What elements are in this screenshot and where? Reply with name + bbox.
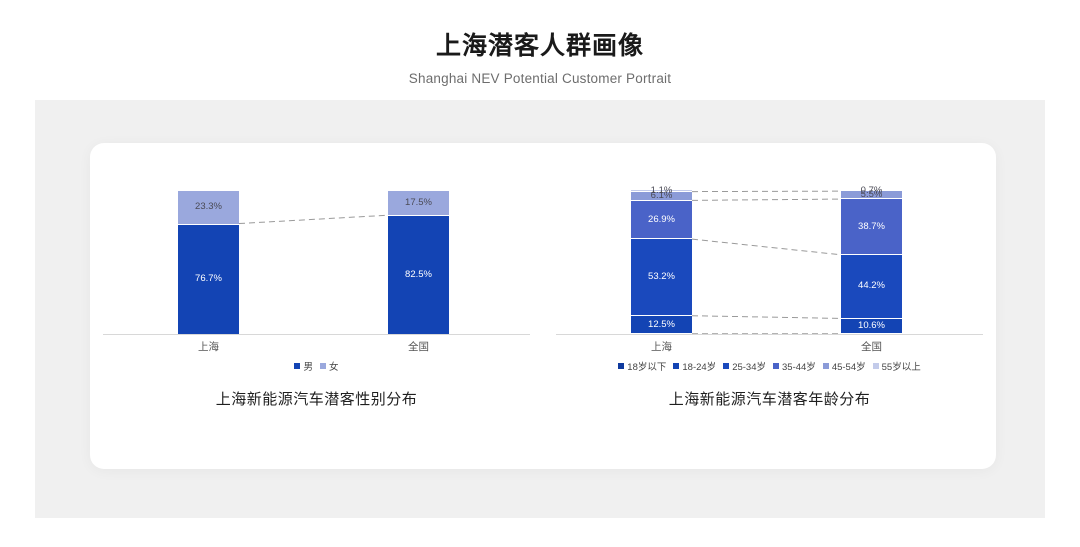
legend-label: 55岁以上 xyxy=(882,359,921,373)
legend-item[interactable]: 25-34岁 xyxy=(723,359,766,373)
bar-segment-label: 17.5% xyxy=(405,198,432,208)
age-plot-area: 0.2%12.5%53.2%26.9%6.1%1.1% 0.2%10.6%44.… xyxy=(556,190,983,334)
bar-segment[interactable]: 76.7% xyxy=(178,224,239,334)
legend-swatch-icon xyxy=(320,363,326,369)
bar-segment-label: 23.3% xyxy=(195,202,222,212)
legend-swatch-icon xyxy=(294,363,300,369)
legend-swatch-icon xyxy=(873,363,879,369)
bar-segment[interactable]: 38.7% xyxy=(841,198,902,254)
legend-swatch-icon xyxy=(773,363,779,369)
gender-legend: 男女 xyxy=(90,359,543,373)
category-label-national: 全国 xyxy=(841,339,902,354)
chart-block-age: 0.2%12.5%53.2%26.9%6.1%1.1% 0.2%10.6%44.… xyxy=(543,143,996,469)
chart-block-gender: 76.7%23.3% 82.5%17.5% 上海 全国 男女 上海新能源汽车潜客… xyxy=(90,143,543,469)
bar-segment[interactable]: 1.1% xyxy=(631,189,692,191)
age-chart-caption: 上海新能源汽车潜客年龄分布 xyxy=(543,388,996,409)
legend-label: 男 xyxy=(303,359,313,373)
category-label-shanghai: 上海 xyxy=(178,339,239,354)
bar-segment-label: 26.9% xyxy=(648,215,675,225)
gender-axis-line xyxy=(103,334,530,335)
bar-segment[interactable]: 44.2% xyxy=(841,254,902,318)
bar-segment[interactable]: 12.5% xyxy=(631,315,692,333)
gender-plot-area: 76.7%23.3% 82.5%17.5% xyxy=(103,190,530,334)
legend-swatch-icon xyxy=(723,363,729,369)
bar-segment-label: 44.2% xyxy=(858,281,885,291)
legend-item[interactable]: 男 xyxy=(294,359,313,373)
bar-age-shanghai[interactable]: 0.2%12.5%53.2%26.9%6.1%1.1% xyxy=(631,189,692,334)
page-subtitle: Shanghai NEV Potential Customer Portrait xyxy=(0,71,1080,86)
gender-chart-caption: 上海新能源汽车潜客性别分布 xyxy=(90,388,543,409)
legend-label: 25-34岁 xyxy=(732,359,766,373)
bar-segment[interactable]: 17.5% xyxy=(388,190,449,215)
bar-segment[interactable]: 23.3% xyxy=(178,190,239,224)
legend-item[interactable]: 45-54岁 xyxy=(823,359,866,373)
age-legend: 18岁以下18-24岁25-34岁35-44岁45-54岁55岁以上 xyxy=(543,359,996,373)
bar-segment[interactable]: 53.2% xyxy=(631,238,692,315)
bar-segment-label: 10.6% xyxy=(858,321,885,331)
bar-age-national[interactable]: 0.2%10.6%44.2%38.7%5.5%0.7% xyxy=(841,189,902,334)
legend-swatch-icon xyxy=(823,363,829,369)
charts-container: 76.7%23.3% 82.5%17.5% 上海 全国 男女 上海新能源汽车潜客… xyxy=(90,143,996,469)
category-label-national: 全国 xyxy=(388,339,449,354)
legend-item[interactable]: 55岁以上 xyxy=(873,359,921,373)
legend-label: 45-54岁 xyxy=(832,359,866,373)
legend-label: 18-24岁 xyxy=(682,359,716,373)
bar-gender-national[interactable]: 82.5%17.5% xyxy=(388,190,449,334)
bar-segment-label: 38.7% xyxy=(858,222,885,232)
bar-segment-label: 0.7% xyxy=(861,186,883,196)
legend-label: 35-44岁 xyxy=(782,359,816,373)
page-title: 上海潜客人群画像 xyxy=(0,26,1080,62)
bar-segment[interactable]: 82.5% xyxy=(388,215,449,334)
age-category-labels: 上海 全国 xyxy=(556,339,983,355)
age-axis-line xyxy=(556,334,983,335)
bar-segment-label: 53.2% xyxy=(648,272,675,282)
category-label-shanghai: 上海 xyxy=(631,339,692,354)
page-header: 上海潜客人群画像 Shanghai NEV Potential Customer… xyxy=(0,0,1080,86)
legend-label: 女 xyxy=(329,359,339,373)
legend-label: 18岁以下 xyxy=(627,359,666,373)
legend-swatch-icon xyxy=(673,363,679,369)
legend-item[interactable]: 女 xyxy=(320,359,339,373)
bar-segment-label: 12.5% xyxy=(648,320,675,330)
bar-segment-label: 82.5% xyxy=(405,270,432,280)
legend-item[interactable]: 35-44岁 xyxy=(773,359,816,373)
legend-item[interactable]: 18-24岁 xyxy=(673,359,716,373)
legend-swatch-icon xyxy=(618,363,624,369)
legend-item[interactable]: 18岁以下 xyxy=(618,359,666,373)
bar-gender-shanghai[interactable]: 76.7%23.3% xyxy=(178,190,239,334)
bar-segment-label: 1.1% xyxy=(651,186,673,196)
bar-segment[interactable]: 26.9% xyxy=(631,200,692,239)
gender-category-labels: 上海 全国 xyxy=(103,339,530,355)
bar-segment[interactable]: 0.7% xyxy=(841,189,902,190)
bar-segment-label: 76.7% xyxy=(195,274,222,284)
bar-segment[interactable]: 10.6% xyxy=(841,318,902,333)
